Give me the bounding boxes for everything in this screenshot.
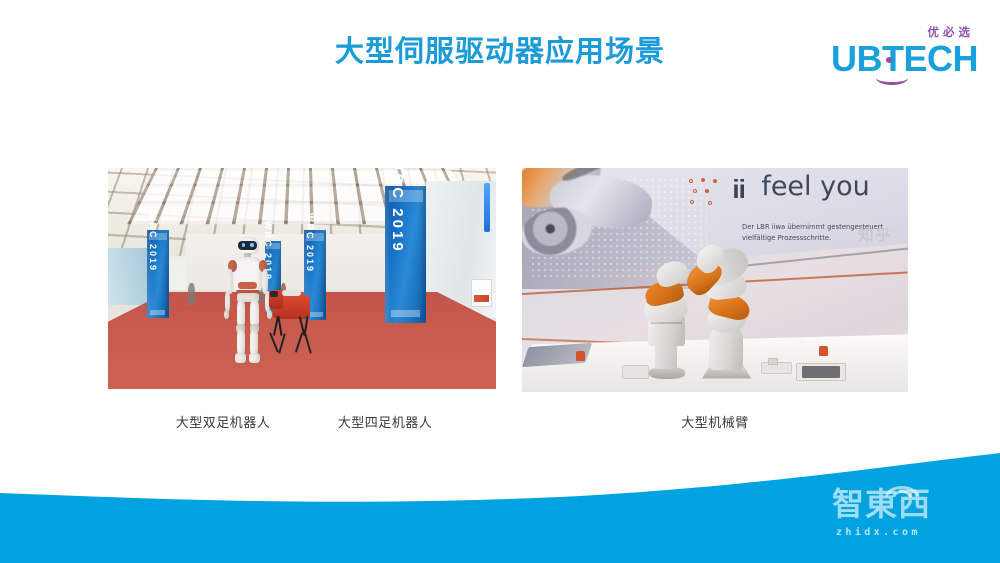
overlay-watermark: 知乎 [859,224,893,245]
dot [693,189,697,193]
robot-upper-arm-right [262,269,268,294]
robot-arm-primary [692,235,777,378]
headline-dot-cluster-icon [688,177,734,213]
brand-dot-icon [886,57,892,63]
dot [701,178,705,182]
dot [705,189,709,193]
wrc-banner-column: WRC 2019 [147,230,169,318]
quadruped-top-plate [282,290,301,296]
robot-shin-left [237,330,245,355]
banner-text: WRC 2019 [148,212,158,272]
backdrop-robot-arm-graphic [522,168,684,271]
dot [713,179,717,183]
hall-glass-wall-left [108,248,147,305]
photo-robot-arm-booth: ii feel you Der LBR iiwa übernimmt geste… [522,168,908,392]
quadruped-shin [269,333,279,353]
visitor-silhouette [188,283,195,305]
hall-neon-strip [484,183,490,232]
photo-caption: 大型机械臂 [655,412,775,431]
photo-caption: 大型双足机器人 [163,412,283,431]
watermark-glyphs: 智東西 [832,487,931,521]
booth-red-button [576,351,585,360]
booth-red-button [819,346,828,356]
banner-text: WRC 2019 [305,213,315,273]
arm-pedestal [655,344,677,370]
ubtech-logo: 优必选 UBTECH [818,24,978,86]
robot-upper-arm-left [227,269,233,294]
robot-chest-accent [238,282,256,289]
booth-control-screen [796,363,846,381]
dot [689,179,693,183]
robot-eye-left [242,243,245,247]
quadruped-shin [278,333,286,354]
robot-forearm-left [225,291,230,312]
banner-text: WRC 2019 [389,168,406,254]
dot [690,200,694,204]
robot-shin-right [250,330,258,355]
quadruped-sensor [270,291,277,297]
quadruped-robot [269,287,316,362]
quadruped-shin [295,333,303,354]
hall-poster [471,279,492,308]
wrc-banner-column: WRC 2019 [385,186,426,323]
zhidx-watermark: 智東西 zhidx.com [832,487,982,549]
robot-foot-right [249,353,260,363]
arm-lower-link [709,327,743,370]
banner-foot [391,310,420,317]
photo-caption: 大型四足机器人 [325,412,445,431]
watermark-url: zhidx.com [836,527,921,539]
headline-mark: ii [732,175,744,203]
photo-bipedal-quadruped-robots: WRC 2019 WRC 2019 WRC 2019 WRC 2019 [108,168,496,389]
banner-foot [150,310,166,314]
slide-canvas: 大型伺服驱动器应用场景 优必选 UBTECH WRC 2019 WRC 2019 [0,0,1000,563]
brand-smile-icon [876,71,908,85]
bipedal-humanoid-robot [221,237,275,367]
dot [708,201,712,205]
robot-foot-left [235,353,246,363]
quadruped-leg [278,316,283,336]
quadruped-shin [304,333,312,354]
robot-hand-left [224,310,229,319]
booth-headline: feel you [761,172,869,202]
robot-eye-right [250,243,253,247]
